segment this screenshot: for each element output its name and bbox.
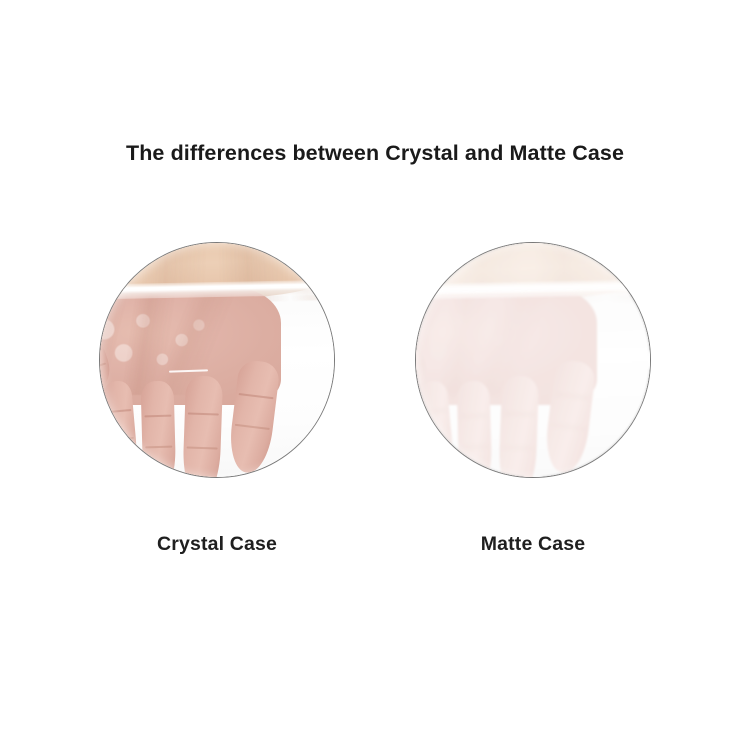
matte-hand-image xyxy=(415,242,651,478)
crystal-case-photo xyxy=(99,242,335,478)
page-title: The differences between Crystal and Matt… xyxy=(0,140,750,166)
matte-case-photo xyxy=(415,242,651,478)
crystal-hand-image xyxy=(99,242,335,478)
finger-little xyxy=(102,379,140,478)
finger-middle xyxy=(182,375,223,478)
hand-fingers xyxy=(99,242,335,478)
matte-case-label: Matte Case xyxy=(415,533,651,556)
matte-diffusion-veil xyxy=(415,242,651,478)
finger-ring xyxy=(141,380,177,478)
product-comparison-graphic: The differences between Crystal and Matt… xyxy=(0,0,750,750)
finger-index xyxy=(226,359,281,475)
crystal-case-label: Crystal Case xyxy=(99,533,335,556)
